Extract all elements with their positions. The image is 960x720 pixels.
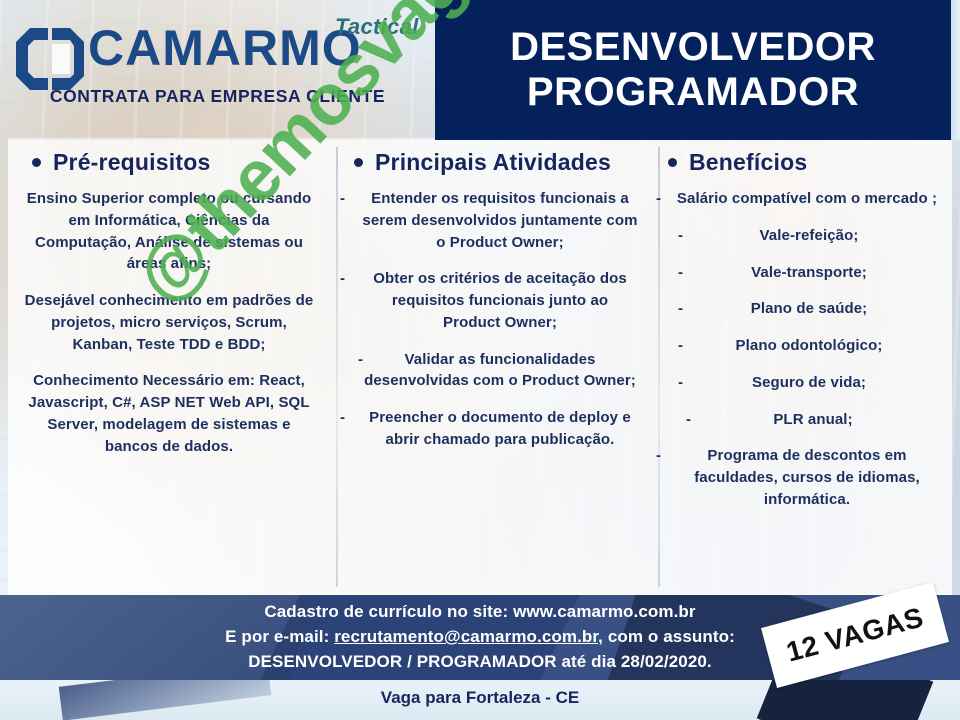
list-item-text: Plano de saúde; <box>678 298 946 320</box>
column-header-beneficios: Benefícios <box>656 149 946 176</box>
list-item-dash: - <box>336 349 362 393</box>
job-title-line-1: DESENVOLVEDOR <box>510 26 876 69</box>
list-item: - Validar as funcionalidades desenvolvid… <box>336 349 644 393</box>
list-item: - Obter os critérios de aceitação dos re… <box>336 268 644 333</box>
list-item-dash: - <box>656 445 674 510</box>
list-item: Ensino Superior completo ou cursando em … <box>14 188 324 275</box>
brand-tagline: Tactical <box>335 14 419 40</box>
camarmo-cube-logo-icon <box>14 26 88 92</box>
bottom-strip: Vaga para Fortaleza - CE <box>0 680 960 720</box>
list-item-text: PLR anual; <box>686 409 946 431</box>
list-item-dash: - <box>656 188 674 210</box>
column-principais-atividades: Principais Atividades - Entender os requ… <box>330 141 650 594</box>
list-item-dash: - <box>656 335 678 357</box>
list-item-text: Seguro de vida; <box>678 372 946 394</box>
list-item-text: Desejável conhecimento em padrões de pro… <box>14 290 324 355</box>
list-item-dash: - <box>656 225 678 247</box>
list-item: - Vale-refeição; <box>656 225 946 247</box>
content-columns: Pré-requisitos Ensino Superior completo … <box>8 141 952 594</box>
list-item: - Plano de saúde; <box>656 298 946 320</box>
list-item-text: Programa de descontos em faculdades, cur… <box>674 445 946 510</box>
column-pre-requisitos: Pré-requisitos Ensino Superior completo … <box>8 141 330 594</box>
list-item: - Plano odontológico; <box>656 335 946 357</box>
brand-block: CAMARMO Tactical CONTRATA PARA EMPRESA C… <box>0 0 435 140</box>
list-item-dash: - <box>336 268 362 333</box>
list-item-dash: - <box>336 188 362 253</box>
list-item-text: Validar as funcionalidades desenvolvidas… <box>362 349 644 393</box>
list-item-text: Vale-refeição; <box>678 225 946 247</box>
job-title-line-2: PROGRAMADOR <box>527 71 859 114</box>
list-item: Desejável conhecimento em padrões de pro… <box>14 290 324 355</box>
footer-email-link[interactable]: recrutamento@camarmo.com.br, <box>334 627 603 646</box>
list-item-dash: - <box>336 407 362 451</box>
bullet-dot-icon <box>354 158 363 167</box>
column-header-principais-atividades: Principais Atividades <box>336 149 644 176</box>
column-header-pre-requisitos: Pré-requisitos <box>14 149 324 176</box>
brand-name: CAMARMO <box>88 23 362 73</box>
list-item-text: Vale-transporte; <box>678 262 946 284</box>
list-item: Conhecimento Necessário em: React, Javas… <box>14 370 324 457</box>
list-item-text: Plano odontológico; <box>678 335 946 357</box>
list-item-text: Obter os critérios de aceitação dos requ… <box>362 268 644 333</box>
bullet-dot-icon <box>32 158 41 167</box>
list-item-dash: - <box>656 262 678 284</box>
list-item: - Preencher o documento de deploy e abri… <box>336 407 644 451</box>
list-item: - Salário compatível com o mercado ; <box>656 188 946 210</box>
list-item-text: Entender os requisitos funcionais a sere… <box>362 188 644 253</box>
list-item: - Programa de descontos em faculdades, c… <box>656 445 946 510</box>
list-item-text: Preencher o documento de deploy e abrir … <box>362 407 644 451</box>
list-item: - Seguro de vida; <box>656 372 946 394</box>
list-item: - Entender os requisitos funcionais a se… <box>336 188 644 253</box>
column-beneficios: Benefícios - Salário compatível com o me… <box>650 141 952 594</box>
job-title-block: DESENVOLVEDOR PROGRAMADOR <box>435 0 951 140</box>
poster-header: CAMARMO Tactical CONTRATA PARA EMPRESA C… <box>0 0 960 140</box>
list-item: - PLR anual; <box>656 409 946 431</box>
footer-email-prefix: E por e-mail: <box>225 627 334 646</box>
list-item-dash: - <box>656 298 678 320</box>
footer-email-suffix: com o assunto: <box>603 627 735 646</box>
brand-subtitle: CONTRATA PARA EMPRESA CLIENTE <box>0 86 435 107</box>
job-poster: CAMARMO Tactical CONTRATA PARA EMPRESA C… <box>0 0 960 720</box>
list-item: - Vale-transporte; <box>656 262 946 284</box>
header-right-edge <box>951 0 960 140</box>
list-item-dash: - <box>656 372 678 394</box>
list-item-text: Ensino Superior completo ou cursando em … <box>14 188 324 275</box>
job-location: Vaga para Fortaleza - CE <box>0 688 960 708</box>
column-title: Principais Atividades <box>375 149 611 176</box>
column-title: Benefícios <box>689 149 807 176</box>
column-title: Pré-requisitos <box>53 149 210 176</box>
list-item-text: Salário compatível com o mercado ; <box>674 188 946 210</box>
list-item-dash: - <box>656 409 686 431</box>
bullet-dot-icon <box>668 158 677 167</box>
list-item-text: Conhecimento Necessário em: React, Javas… <box>14 370 324 457</box>
